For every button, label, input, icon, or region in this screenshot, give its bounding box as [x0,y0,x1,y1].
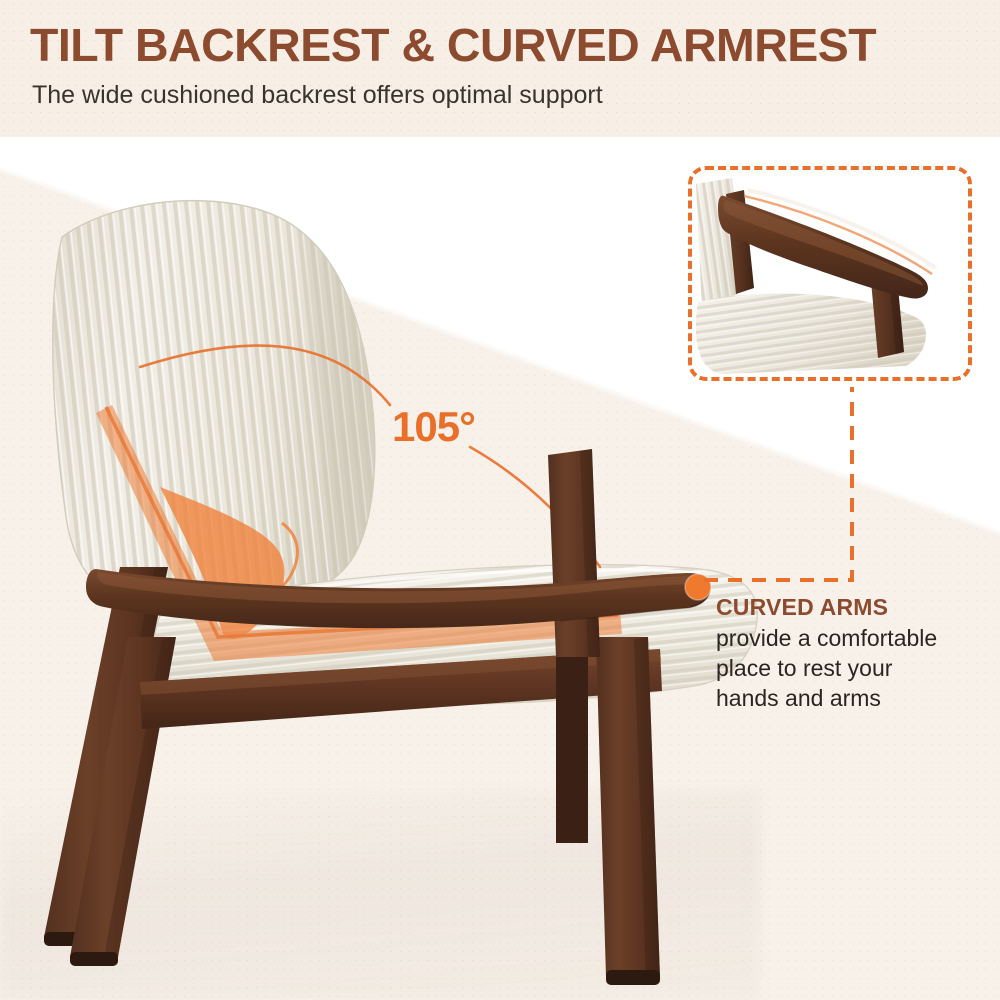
inset-connector-line [600,367,1000,607]
header-banner: TILT BACKREST & CURVED ARMREST The wide … [0,0,1000,137]
product-photo-area: 105° CURVED ARMS provide a comfortable p… [0,137,1000,1000]
tilt-angle-label: 105° [392,405,475,449]
page-subtitle: The wide cushioned backrest offers optim… [32,80,603,110]
caption-line-1: provide a comfortable [716,624,996,652]
rear-right-leg [556,653,588,843]
caption-line-2: place to rest your [716,654,996,682]
armrest-detail-illustration [692,170,968,377]
product-infographic: TILT BACKREST & CURVED ARMREST The wide … [0,0,1000,1000]
armrest-support-post [548,449,600,657]
caption-block: CURVED ARMS provide a comfortable place … [716,592,996,712]
page-title: TILT BACKREST & CURVED ARMREST [30,20,876,70]
caption-title: CURVED ARMS [716,592,996,622]
armrest-detail-inset [688,166,972,381]
caption-line-3: hands and arms [716,684,996,712]
